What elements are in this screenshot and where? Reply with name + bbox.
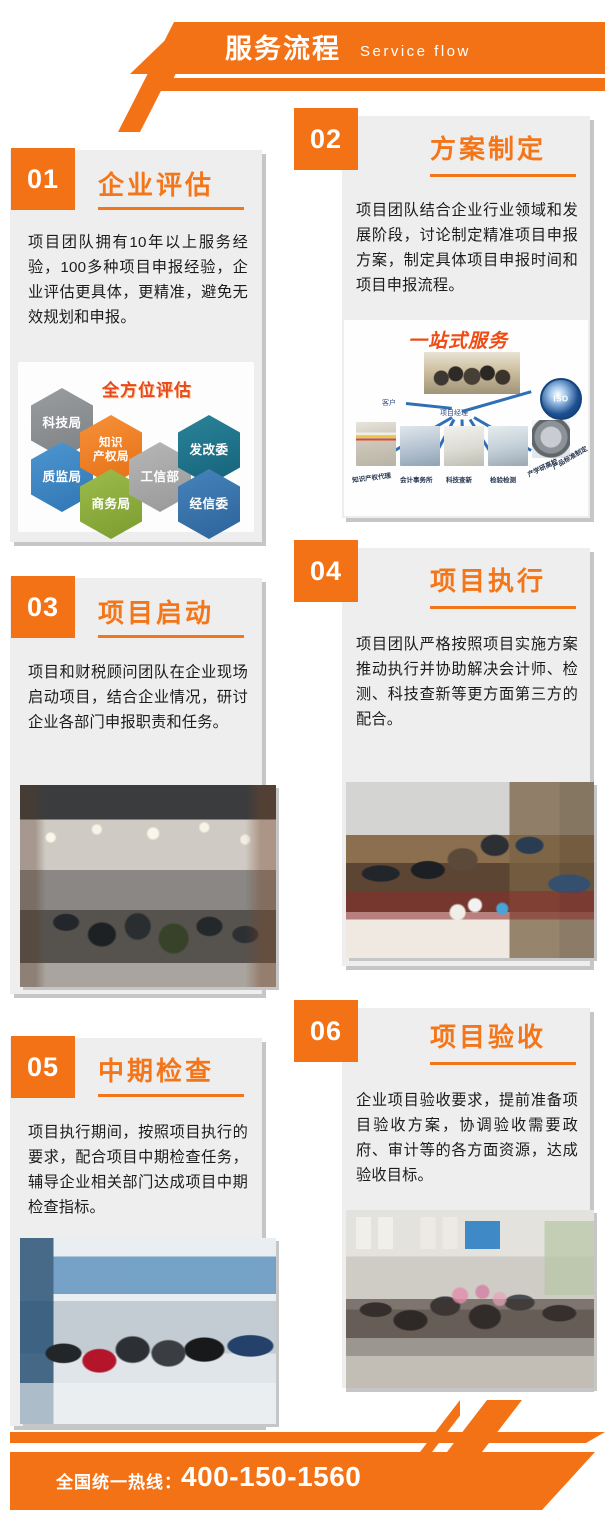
onestop-thumb-accounting bbox=[400, 426, 440, 466]
hexagon-assessment-diagram: 全方位评估 科技局 质监局 知识 产权局 商务局 工信部 发改委 经信委 bbox=[18, 362, 254, 532]
footer-topbar bbox=[10, 1432, 605, 1443]
card-title: 企业评估 bbox=[98, 170, 214, 200]
page-header: 服务流程 Service flow bbox=[0, 0, 605, 105]
card-title: 方案制定 bbox=[430, 134, 546, 164]
step-card-04: 04 项目执行 项目团队严格按照项目实施方案推动执行并协助解决会计师、检测、科技… bbox=[294, 540, 594, 970]
hexagon-node-label: 商务局 bbox=[91, 497, 130, 511]
onestop-diagram-title: 一站式服务 bbox=[408, 326, 508, 353]
hexagon-node-label: 知识 产权局 bbox=[93, 436, 129, 464]
title-underline bbox=[98, 635, 244, 638]
onestop-node-customer: 客户 bbox=[382, 398, 396, 408]
step-number-badge: 03 bbox=[11, 576, 75, 638]
hexagon-node-label: 经信委 bbox=[189, 497, 228, 511]
onestop-arrow bbox=[406, 402, 452, 410]
card-description: 项目和财税顾问团队在企业现场启动项目，结合企业情况，研讨企业各部门申报职责和任务… bbox=[28, 660, 248, 735]
hotline-number[interactable]: 400-150-1560 bbox=[181, 1461, 361, 1493]
onestop-leaf-label: 会计事务所 bbox=[400, 474, 433, 484]
step-card-02: 02 方案制定 项目团队结合企业行业领域和发展阶段，讨论制定精准项目申报方案，制… bbox=[294, 108, 594, 522]
onestop-leaf-label: 知识产权代理 bbox=[352, 470, 392, 485]
card-title: 项目验收 bbox=[430, 1022, 546, 1052]
hexagon-node-label: 质监局 bbox=[42, 470, 81, 484]
step-card-01: 01 企业评估 项目团队拥有10年以上服务经验，100多种项目申报经验，企业评估… bbox=[10, 150, 266, 546]
onestop-team-photo bbox=[424, 352, 520, 394]
onestop-thumb-university bbox=[532, 420, 570, 458]
step-photo-05 bbox=[20, 1238, 276, 1424]
card-description: 项目团队拥有10年以上服务经验，100多种项目申报经验，企业评估更具体，更精准，… bbox=[28, 230, 248, 330]
onestop-iso-seal: ISO bbox=[540, 378, 582, 420]
onestop-thumb-inspection bbox=[488, 426, 528, 466]
step-card-05: 05 中期检查 项目执行期间，按照项目执行的要求，配合项目中期检查任务，辅导企业… bbox=[10, 1038, 266, 1430]
onestop-thumb-ip bbox=[356, 422, 396, 466]
step-photo-03 bbox=[20, 785, 276, 987]
step-number-badge: 02 bbox=[294, 108, 358, 170]
step-number-badge: 04 bbox=[294, 540, 358, 602]
step-photo-04 bbox=[346, 782, 594, 958]
step-number-badge: 05 bbox=[11, 1036, 75, 1098]
step-card-06: 06 项目验收 企业项目验收要求，提前准备项目验收方案，协调验收需要政府、审计等… bbox=[294, 1000, 594, 1392]
onestop-service-diagram: 一站式服务 客户 项目经理 ISO 知识产权代理 bbox=[344, 320, 588, 516]
title-underline bbox=[430, 606, 576, 609]
card-description: 项目执行期间，按照项目执行的要求，配合项目中期检查任务，辅导企业相关部门达成项目… bbox=[28, 1120, 248, 1220]
header-underbar bbox=[140, 78, 605, 91]
infographic-page: 服务流程 Service flow 01 企业评估 项目团队拥有10年以上服务经… bbox=[0, 0, 605, 1538]
hotline-label: 全国统一热线： bbox=[56, 1468, 182, 1493]
card-description: 项目团队严格按照项目实施方案推动执行并协助解决会计师、检测、科技查新等更方面第三… bbox=[356, 632, 578, 732]
card-title: 项目执行 bbox=[430, 566, 546, 596]
card-title: 项目启动 bbox=[98, 598, 214, 628]
step-number-badge: 01 bbox=[11, 148, 75, 210]
title-underline bbox=[98, 1094, 244, 1097]
hexagon-diagram-title: 全方位评估 bbox=[102, 376, 192, 401]
title-underline bbox=[430, 174, 576, 177]
onestop-leaf-label: 科技查新 bbox=[446, 474, 472, 484]
card-description: 企业项目验收要求，提前准备项目验收方案，协调验收需要政府、审计等的各方面资源，达… bbox=[356, 1088, 578, 1188]
hexagon-node-label: 科技局 bbox=[42, 416, 81, 430]
step-photo-06 bbox=[346, 1210, 594, 1388]
card-title: 中期检查 bbox=[98, 1056, 214, 1086]
title-underline bbox=[98, 207, 244, 210]
step-number-badge: 06 bbox=[294, 1000, 358, 1062]
hexagon-node-label: 发改委 bbox=[189, 443, 228, 457]
page-subtitle: Service flow bbox=[360, 40, 471, 64]
card-description: 项目团队结合企业行业领域和发展阶段，讨论制定精准项目申报方案，制定具体项目申报时… bbox=[356, 198, 578, 298]
step-card-03: 03 项目启动 项目和财税顾问团队在企业现场启动项目，结合企业情况，研讨企业各部… bbox=[10, 578, 266, 998]
title-underline bbox=[430, 1062, 576, 1065]
onestop-leaf-label: 检验检测 bbox=[490, 474, 516, 484]
onestop-thumb-search bbox=[444, 426, 484, 466]
page-title: 服务流程 bbox=[225, 30, 341, 68]
hexagon-node-label: 工信部 bbox=[140, 470, 179, 484]
onestop-iso-seal-text: ISO bbox=[553, 395, 568, 404]
